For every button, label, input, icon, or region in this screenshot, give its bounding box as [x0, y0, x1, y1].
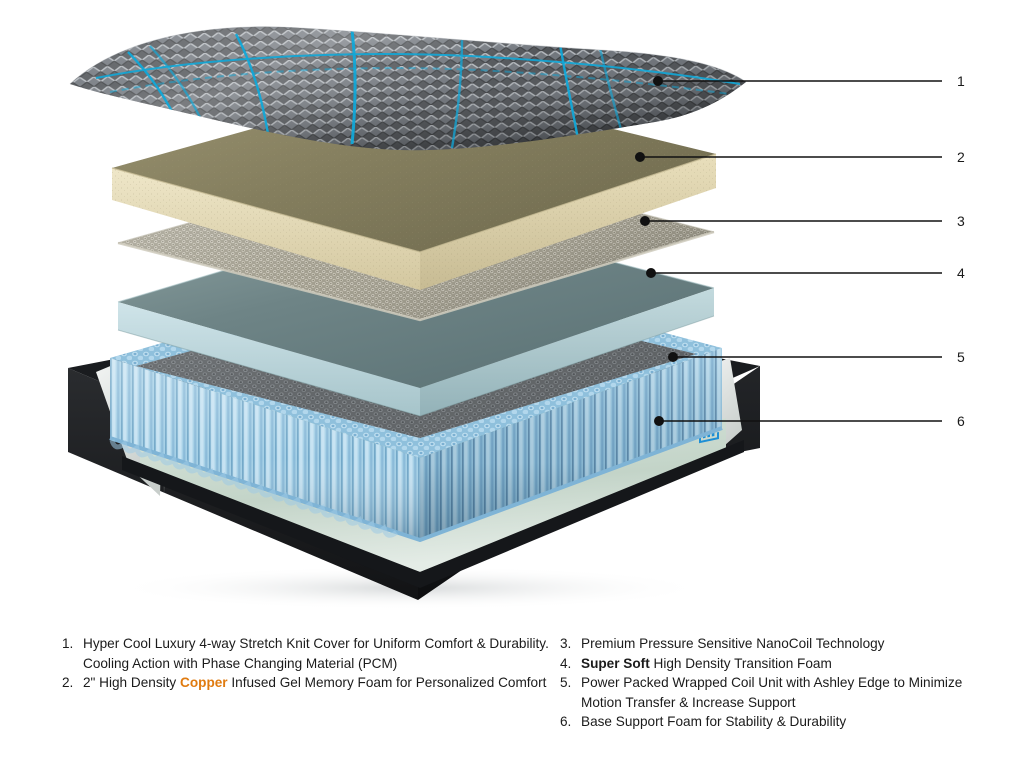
legend-column-right: 3.Premium Pressure Sensitive NanoCoil Te… — [560, 634, 990, 732]
legend-item: 6.Base Support Foam for Stability & Dura… — [560, 712, 990, 732]
legend-text-segment: Hyper Cool Luxury 4-way Stretch Knit Cov… — [83, 636, 549, 671]
callout-number-1: 1 — [957, 74, 965, 88]
legend-text-segment: Premium Pressure Sensitive NanoCoil Tech… — [581, 636, 884, 651]
legend-item-text: Super Soft High Density Transition Foam — [581, 654, 990, 674]
legend-item: 4.Super Soft High Density Transition Foa… — [560, 654, 990, 674]
legend-item-number: 3. — [560, 634, 581, 654]
legend-text-segment: High Density Transition Foam — [650, 656, 832, 671]
legend-text-segment: Power Packed Wrapped Coil Unit with Ashl… — [581, 675, 962, 710]
callout-number-6: 6 — [957, 414, 965, 428]
exploded-mattress-diagram: 1 2 3 4 5 6 — [0, 0, 1024, 620]
callout-number-5: 5 — [957, 350, 965, 364]
legend-item-number: 6. — [560, 712, 581, 732]
legend-item-text: Premium Pressure Sensitive NanoCoil Tech… — [581, 634, 990, 654]
leader-line-4 — [647, 269, 942, 277]
callout-number-4: 4 — [957, 266, 965, 280]
mattress-layers-infographic: 1 2 3 4 5 6 1.Hyper Cool Luxury 4-way St… — [0, 0, 1024, 768]
legend-item-number: 2. — [62, 673, 83, 693]
callout-number-2: 2 — [957, 150, 965, 164]
legend: 1.Hyper Cool Luxury 4-way Stretch Knit C… — [0, 620, 1024, 768]
callout-number-3: 3 — [957, 214, 965, 228]
legend-item: 1.Hyper Cool Luxury 4-way Stretch Knit C… — [62, 634, 552, 673]
legend-text-segment: Infused Gel Memory Foam for Personalized… — [228, 675, 547, 690]
legend-item-text: Hyper Cool Luxury 4-way Stretch Knit Cov… — [83, 634, 552, 673]
legend-item: 3.Premium Pressure Sensitive NanoCoil Te… — [560, 634, 990, 654]
legend-item: 2.2" High Density Copper Infused Gel Mem… — [62, 673, 552, 693]
leader-line-3 — [641, 217, 942, 225]
legend-text-segment: 2" High Density — [83, 675, 180, 690]
legend-item-number: 4. — [560, 654, 581, 674]
legend-column-left: 1.Hyper Cool Luxury 4-way Stretch Knit C… — [62, 634, 552, 693]
legend-item-number: 5. — [560, 673, 581, 693]
legend-item-text: Base Support Foam for Stability & Durabi… — [581, 712, 990, 732]
bold-highlight: Super Soft — [581, 656, 650, 671]
legend-item-number: 1. — [62, 634, 83, 654]
copper-highlight: Copper — [180, 675, 228, 690]
legend-item-text: Power Packed Wrapped Coil Unit with Ashl… — [581, 673, 990, 712]
legend-text-segment: Base Support Foam for Stability & Durabi… — [581, 714, 846, 729]
legend-item: 5.Power Packed Wrapped Coil Unit with As… — [560, 673, 990, 712]
legend-item-text: 2" High Density Copper Infused Gel Memor… — [83, 673, 552, 693]
